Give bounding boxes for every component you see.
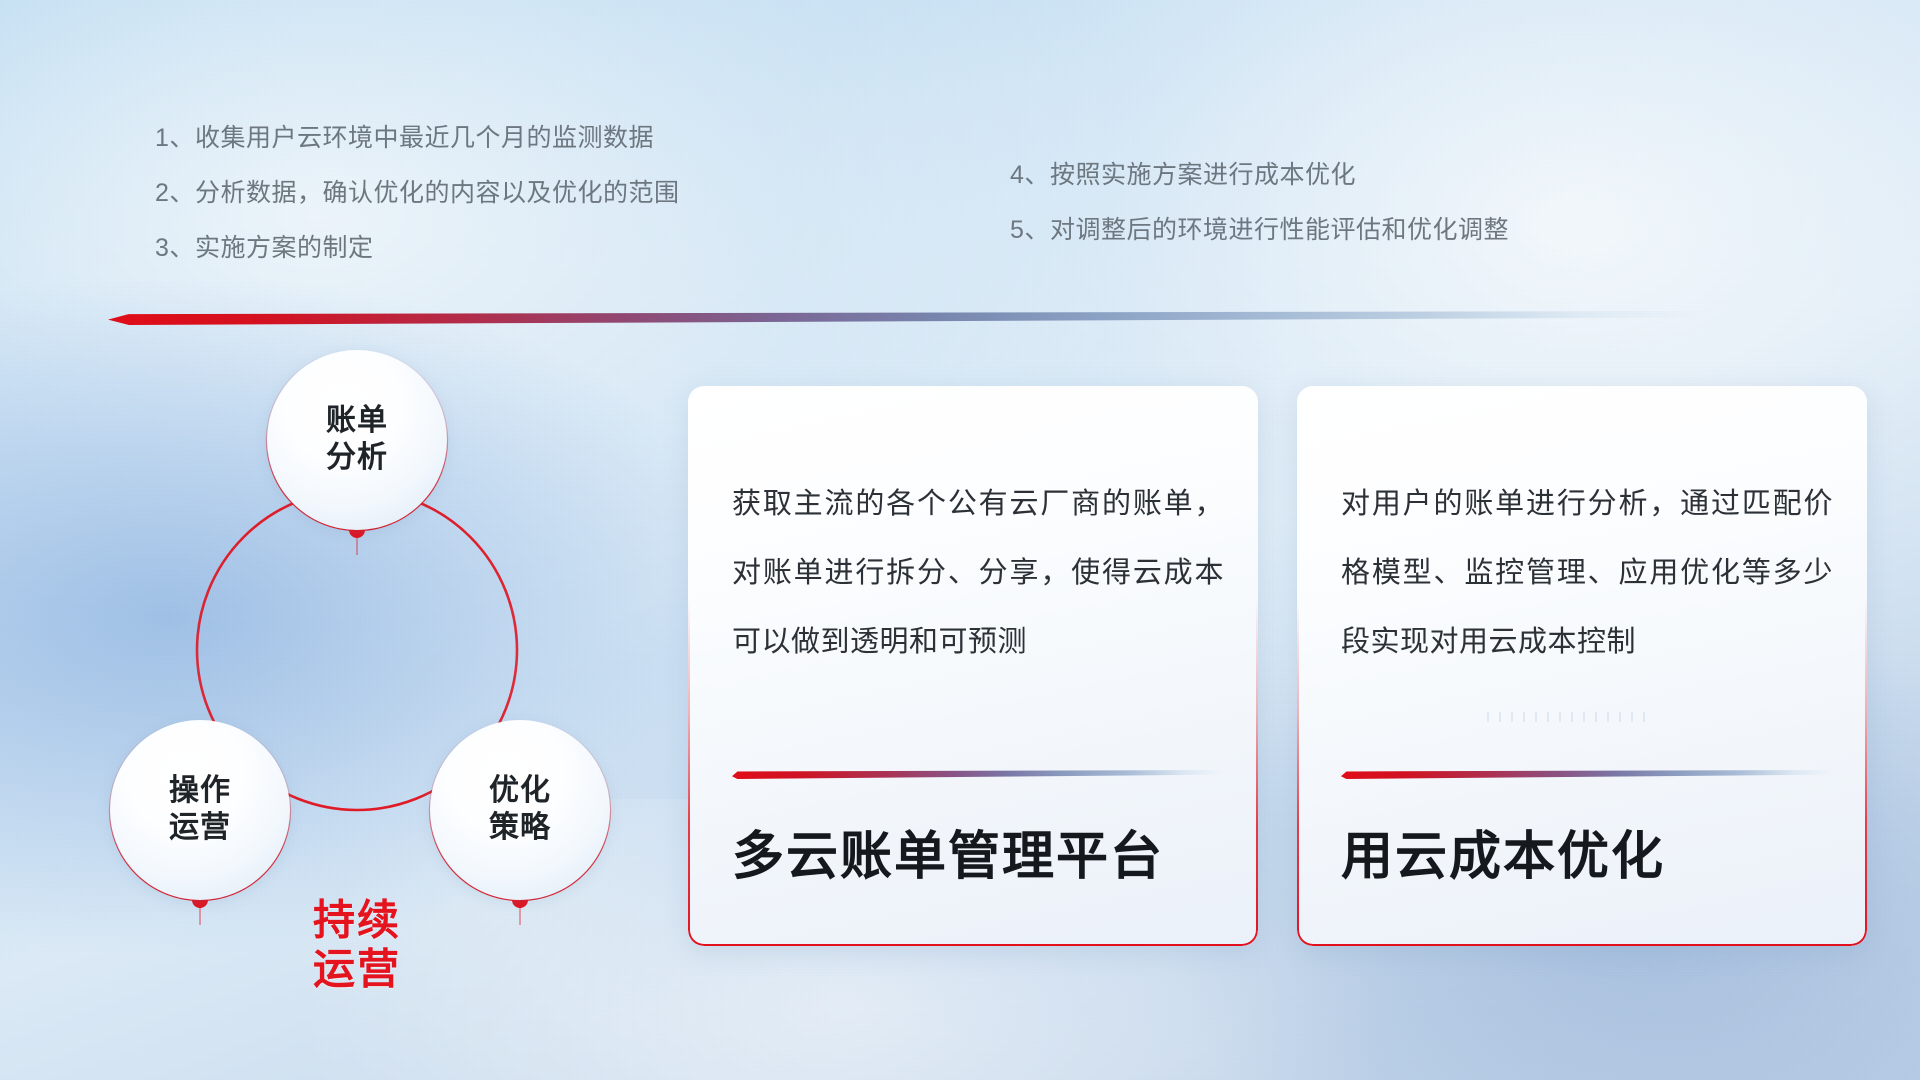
- list-item: 2、 分析数据，确认优化的内容以及优化的范围: [155, 181, 680, 236]
- card-title: 多云账单管理平台: [732, 826, 1228, 888]
- bubble-label: 账单 分析: [326, 403, 388, 476]
- card-divider-blade: [732, 770, 1224, 779]
- card-divider-blade: [1341, 770, 1833, 779]
- steps-list-left: 1、 收集用户云环境中最近几个月的监测数据 2、 分析数据，确认优化的内容以及优…: [155, 126, 680, 291]
- list-item-number: 3、: [155, 236, 195, 261]
- list-item: 5、 对调整后的环境进行性能评估和优化调整: [1010, 218, 1509, 273]
- list-item: 4、 按照实施方案进行成本优化: [1010, 163, 1509, 218]
- list-item-number: 5、: [1010, 218, 1050, 243]
- list-item: 1、 收集用户云环境中最近几个月的监测数据: [155, 126, 680, 181]
- list-item: 3、 实施方案的制定: [155, 236, 680, 291]
- card-divider: [732, 770, 1224, 779]
- feature-card-multicloud-billing[interactable]: 获取主流的各个公有云厂商的账单，对账单进行拆分、分享，使得云成本可以做到透明和可…: [688, 386, 1258, 946]
- bubble-label-line1: 操作: [169, 774, 231, 807]
- card-description: 获取主流的各个公有云厂商的账单，对账单进行拆分、分享，使得云成本可以做到透明和可…: [732, 470, 1224, 677]
- list-item-label: 按照实施方案进行成本优化: [1050, 163, 1356, 188]
- feature-card-cloud-cost-optimization[interactable]: 对用户的账单进行分析，通过匹配价格模型、监控管理、应用优化等多少段实现对用云成本…: [1297, 386, 1867, 946]
- bubble-label-line1: 优化: [489, 774, 551, 807]
- continuous-operation-diagram: 账单 分析 操作 运营 优化 策略 持续 运营: [92, 350, 642, 960]
- list-item-number: 2、: [155, 181, 195, 206]
- bubble-label: 操作 运营: [169, 773, 231, 846]
- bubble-label-line2: 运营: [169, 811, 231, 844]
- divider-blade: [108, 311, 1708, 325]
- list-item-label: 收集用户云环境中最近几个月的监测数据: [195, 126, 654, 151]
- card-description: 对用户的账单进行分析，通过匹配价格模型、监控管理、应用优化等多少段实现对用云成本…: [1341, 470, 1833, 677]
- bubble-label-line2: 策略: [489, 811, 551, 844]
- list-item-label: 分析数据，确认优化的内容以及优化的范围: [195, 181, 680, 206]
- card-texture-dots: [1487, 712, 1647, 722]
- center-label-line2: 运营: [313, 945, 401, 992]
- list-item-number: 4、: [1010, 163, 1050, 188]
- list-item-label: 对调整后的环境进行性能评估和优化调整: [1050, 218, 1509, 243]
- card-divider: [1341, 770, 1833, 779]
- bubble-bill-analysis[interactable]: 账单 分析: [267, 350, 447, 530]
- bubble-label-line1: 账单: [326, 404, 388, 437]
- diagram-center-label: 持续 运营: [313, 896, 401, 993]
- bubble-optimization-strategy[interactable]: 优化 策略: [430, 720, 610, 900]
- list-item-number: 1、: [155, 126, 195, 151]
- slide-canvas: 1、 收集用户云环境中最近几个月的监测数据 2、 分析数据，确认优化的内容以及优…: [0, 0, 1920, 1080]
- card-title: 用云成本优化: [1341, 826, 1837, 888]
- bubble-operation[interactable]: 操作 运营: [110, 720, 290, 900]
- steps-list-right: 4、 按照实施方案进行成本优化 5、 对调整后的环境进行性能评估和优化调整: [1010, 163, 1509, 273]
- section-divider: [108, 311, 1708, 325]
- bubble-label: 优化 策略: [489, 773, 551, 846]
- center-label-line1: 持续: [313, 896, 401, 943]
- list-item-label: 实施方案的制定: [195, 236, 374, 261]
- bubble-label-line2: 分析: [326, 441, 388, 474]
